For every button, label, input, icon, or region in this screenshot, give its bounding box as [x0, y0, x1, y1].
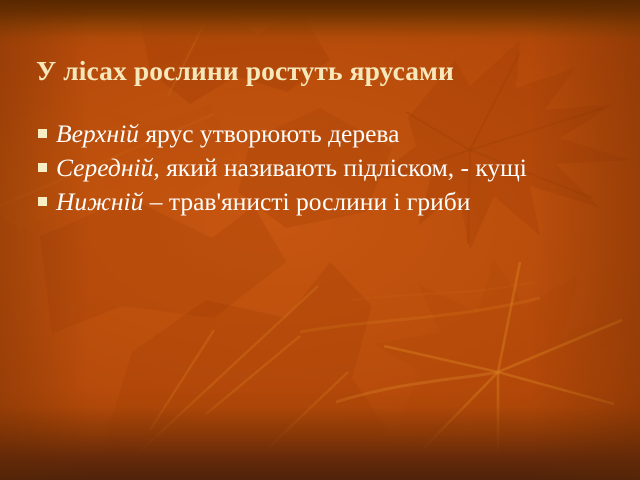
list-item-emphasis: Нижній: [56, 187, 143, 216]
list-item: Нижній – трав'янисті рослини і гриби: [30, 185, 590, 218]
presentation-slide: У лісах рослини ростуть ярусами Верхній …: [0, 0, 640, 480]
list-item-text: ярус утворюють дерева: [139, 119, 400, 148]
slide-title: У лісах рослини ростуть ярусами: [36, 56, 606, 87]
list-item-text: – трав'янисті рослини і гриби: [143, 187, 470, 216]
list-item-emphasis: Середній: [56, 153, 153, 182]
list-item: Середній, який називають підліском, - ку…: [30, 151, 590, 184]
bullet-list: Верхній ярус утворюють дерева Середній, …: [30, 117, 590, 218]
square-bullet-icon: [38, 129, 47, 138]
list-item: Верхній ярус утворюють дерева: [30, 117, 590, 150]
square-bullet-icon: [38, 197, 47, 206]
list-item-emphasis: Верхній: [56, 119, 139, 148]
slide-content: У лісах рослини ростуть ярусами Верхній …: [0, 0, 640, 480]
square-bullet-icon: [38, 163, 47, 172]
list-item-text: , який називають підліском, - кущі: [153, 153, 527, 182]
